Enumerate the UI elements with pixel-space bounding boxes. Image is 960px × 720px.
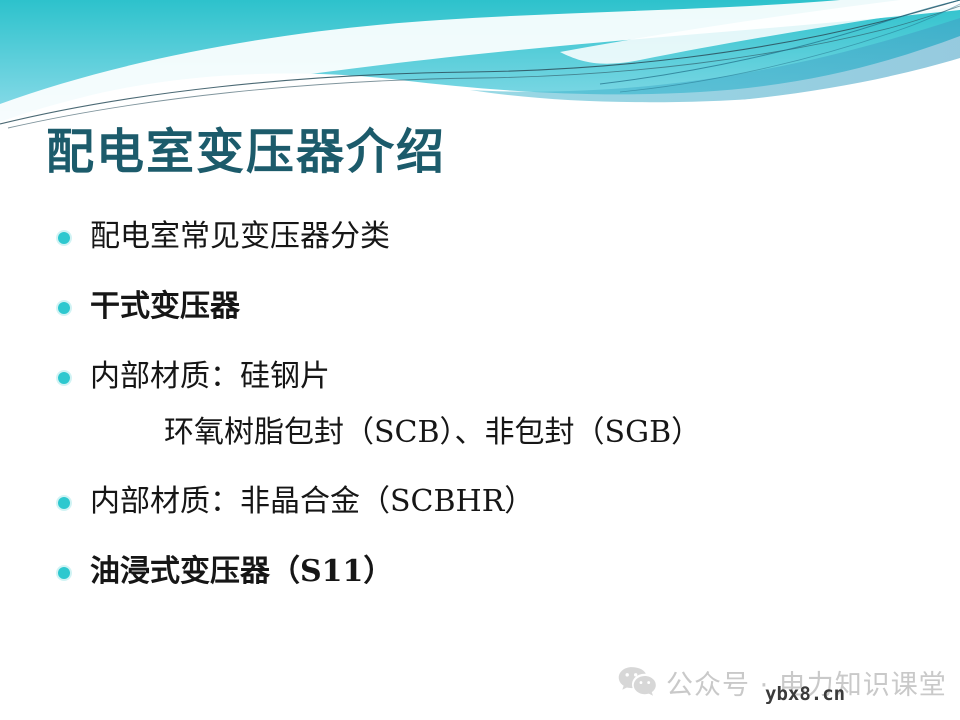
- wechat-icon: [618, 666, 656, 698]
- bullet-list: 配电室常见变压器分类 干式变压器 内部材质：硅钢片 环氧树脂包封（SCB）、非包…: [46, 218, 906, 623]
- list-item-label: 油浸式变压器（S11）: [90, 553, 393, 591]
- list-item: 内部材质：硅钢片 环氧树脂包封（SCB）、非包封（SGB）: [46, 358, 906, 453]
- list-item: 配电室常见变压器分类: [46, 218, 906, 258]
- bullet-dot-icon: [58, 497, 70, 509]
- bullet-dot-icon: [58, 372, 70, 384]
- list-item: 内部材质：非晶合金（SCBHR）: [46, 483, 906, 523]
- list-item: 油浸式变压器（S11）: [46, 553, 906, 593]
- wave-banner-header: [0, 0, 960, 130]
- bullet-dot-icon: [58, 232, 70, 244]
- bullet-dot-icon: [58, 302, 70, 314]
- url-stamp: ybx8.cn: [765, 683, 845, 705]
- page-title: 配电室变压器介绍: [46, 125, 446, 180]
- list-item-sub-label: 环氧树脂包封（SCB）、非包封（SGB）: [90, 414, 701, 452]
- list-item-label: 配电室常见变压器分类: [90, 218, 390, 256]
- list-item-label: 干式变压器: [90, 288, 240, 326]
- bullet-dot-icon: [58, 567, 70, 579]
- list-item-label: 内部材质：非晶合金（SCBHR）: [90, 483, 534, 521]
- wave-banner-icon: [0, 0, 960, 130]
- presentation-slide: 配电室变压器介绍 配电室常见变压器分类 干式变压器 内部材质：硅钢片 环氧树脂包…: [0, 0, 960, 720]
- list-item-label: 内部材质：硅钢片: [90, 358, 701, 396]
- list-item: 干式变压器: [46, 288, 906, 328]
